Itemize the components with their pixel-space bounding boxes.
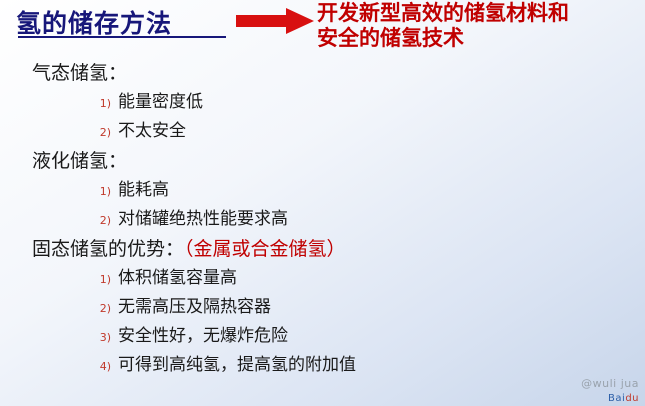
- list-item-number: 2): [85, 294, 111, 323]
- list-item-text: 不太安全: [118, 121, 186, 141]
- list-item-text: 体积储氢容量高: [118, 268, 237, 288]
- slide-title-row: 氢的储存方法 开发新型高效的储氢材料和 安全的储氢技术: [0, 0, 645, 60]
- section-heading-note: （金属或合金储氢）: [184, 238, 346, 260]
- list-item: 2) 不太安全: [118, 117, 645, 146]
- watermark-logo-blue: Bai: [608, 393, 625, 404]
- list-item: 1) 能量密度低: [118, 88, 645, 117]
- slide-body: 气态储氢： 1) 能量密度低 2) 不太安全 液化储氢： 1) 能耗高 2) 对…: [0, 58, 645, 380]
- slide-canvas: 氢的储存方法 开发新型高效的储氢材料和 安全的储氢技术 气态储氢： 1) 能量密…: [0, 0, 645, 406]
- watermark: @wuli jua: [581, 377, 639, 390]
- list-item: 3) 安全性好，无爆炸危险: [118, 322, 645, 351]
- title-callout: 开发新型高效的储氢材料和 安全的储氢技术: [317, 0, 645, 50]
- list-item-number: 2): [85, 118, 111, 147]
- callout-line-1: 开发新型高效的储氢材料和: [317, 0, 645, 25]
- list-item-number: 4): [85, 352, 111, 381]
- page-title: 氢的储存方法: [16, 4, 172, 40]
- arrow-shaft: [236, 15, 288, 27]
- list-item-text: 无需高压及隔热容器: [118, 297, 271, 317]
- list-item-text: 能量密度低: [118, 92, 203, 112]
- list-item: 4) 可得到高纯氢，提高氢的附加值: [118, 351, 645, 380]
- list-item-text: 能耗高: [118, 180, 169, 200]
- list-item: 1) 体积储氢容量高: [118, 264, 645, 293]
- section-heading: 固态储氢的优势：（金属或合金储氢）: [32, 234, 645, 264]
- list-item-text: 对储罐绝热性能要求高: [118, 209, 288, 229]
- list-item: 1) 能耗高: [118, 176, 645, 205]
- list-item-text: 可得到高纯氢，提高氢的附加值: [118, 355, 356, 375]
- watermark-logo: Baidu: [608, 393, 639, 404]
- arrow-head: [286, 8, 314, 34]
- callout-line-2: 安全的储氢技术: [317, 25, 645, 50]
- list-item-number: 2): [85, 206, 111, 235]
- section-heading-text: 液化储氢：: [32, 150, 127, 172]
- section-heading-text: 固态储氢的优势：: [32, 238, 184, 260]
- list-item-number: 3): [85, 323, 111, 352]
- section-heading-text: 气态储氢：: [32, 62, 127, 84]
- list-item-text: 安全性好，无爆炸危险: [118, 326, 288, 346]
- right-arrow-icon: [236, 8, 314, 34]
- list-item: 2) 无需高压及隔热容器: [118, 293, 645, 322]
- section-heading: 气态储氢：: [32, 58, 645, 88]
- list-item-number: 1): [85, 265, 111, 294]
- list-item-number: 1): [85, 177, 111, 206]
- section-heading: 液化储氢：: [32, 146, 645, 176]
- list-item-number: 1): [85, 89, 111, 118]
- watermark-logo-red: du: [625, 393, 639, 404]
- list-item: 2) 对储罐绝热性能要求高: [118, 205, 645, 234]
- title-underline: [18, 36, 226, 38]
